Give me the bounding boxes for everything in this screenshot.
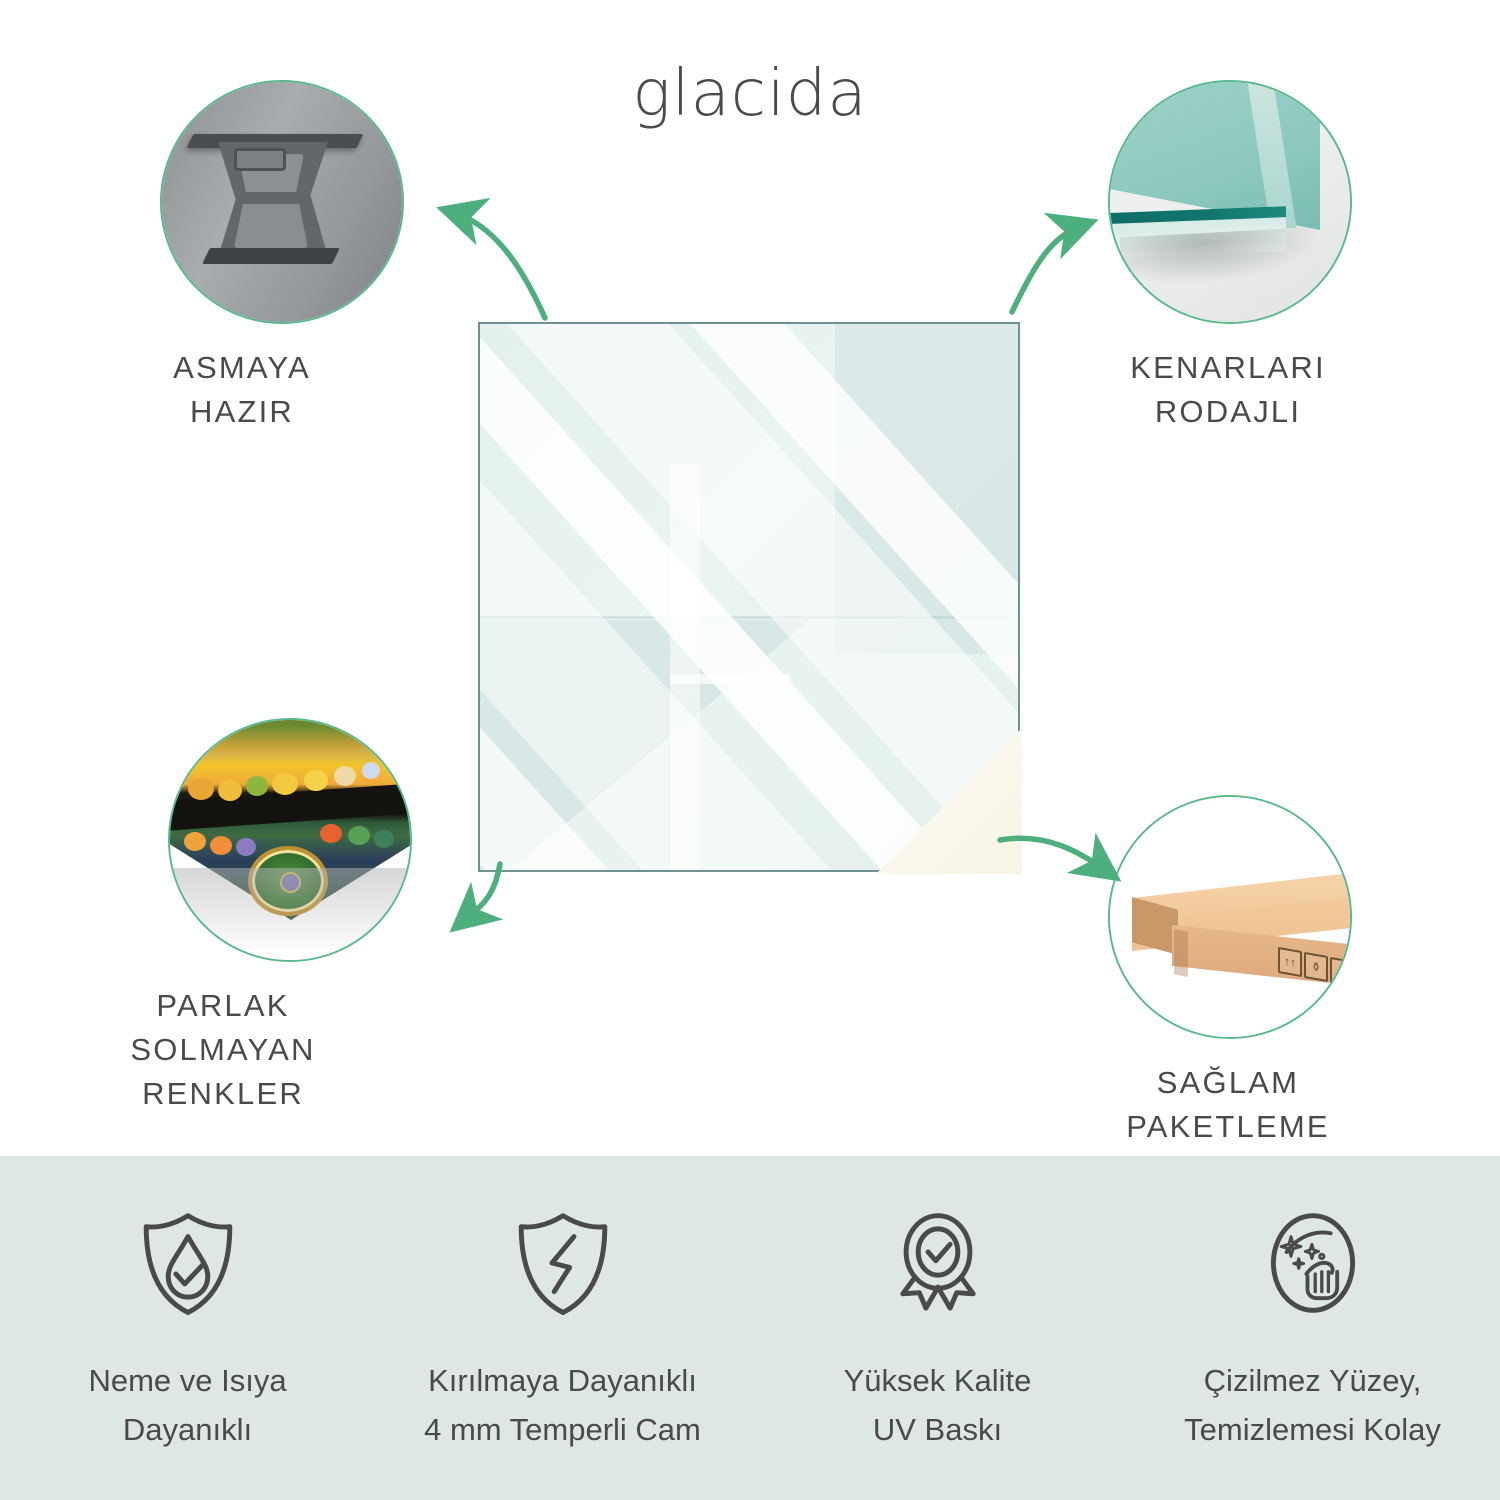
award-ribbon-check-icon — [883, 1208, 993, 1318]
arrow-to-kenarlari-rodajli — [1012, 225, 1083, 312]
wall-mount-bracket-photo — [162, 82, 402, 322]
band-item-label: Çizilmez Yüzey, Temizlemesi Kolay — [1184, 1356, 1441, 1454]
feature-label: SAĞLAM PAKETLEME — [1108, 1061, 1348, 1149]
this-way-up-icon: ↑↑ — [1278, 947, 1302, 977]
sparkle-hand-wipe-icon — [1258, 1208, 1368, 1318]
band-item-high-quality-uv: Yüksek Kalite UV Baskı — [750, 1156, 1125, 1500]
fragile-glass-icon: ⚱ — [1304, 952, 1328, 982]
feature-asmaya-hazir: ASMAYA HAZIR — [160, 80, 404, 434]
feature-image-circle: ↑↑ ⚱ ☂ — [1108, 795, 1352, 1039]
feature-label: ASMAYA HAZIR — [122, 346, 362, 434]
shield-water-drop-check-icon — [133, 1208, 243, 1318]
keep-dry-umbrella-icon: ☂ — [1330, 957, 1352, 987]
glass-surface — [478, 322, 1020, 872]
band-item-label: Neme ve Isıya Dayanıklı — [88, 1356, 286, 1454]
shield-lightning-bolt-icon — [508, 1208, 618, 1318]
band-item-break-resistant: Kırılmaya Dayanıklı 4 mm Temperli Cam — [375, 1156, 750, 1500]
feature-kenarlari-rodajli: KENARLARI RODAJLI — [1108, 80, 1352, 434]
feature-saglam-paketleme: ↑↑ ⚱ ☂ SAĞLAM PAKETLEME — [1108, 795, 1352, 1149]
band-item-label: Yüksek Kalite UV Baskı — [844, 1356, 1032, 1454]
product-glass-panel — [478, 322, 1020, 872]
cardboard-box-illustration: ↑↑ ⚱ ☂ — [1110, 797, 1350, 1037]
stained-glass-mosaic-photo — [170, 720, 410, 960]
arrow-to-parlak-solmayan-renkler — [462, 864, 500, 922]
polished-glass-edge-photo — [1110, 82, 1350, 322]
glass-horizontal-highlight — [670, 674, 790, 684]
band-item-moisture-heat: Neme ve Isıya Dayanıklı — [0, 1156, 375, 1500]
feature-band: Neme ve Isıya Dayanıklı Kırılmaya Dayanı… — [0, 1156, 1500, 1500]
feature-image-circle — [160, 80, 404, 324]
glass-vertical-highlight — [670, 464, 700, 872]
feature-label: KENARLARI RODAJLI — [1108, 346, 1348, 434]
arrow-to-asmaya-hazir — [452, 212, 545, 318]
band-item-label: Kırılmaya Dayanıklı 4 mm Temperli Cam — [424, 1356, 701, 1454]
feature-image-circle — [1108, 80, 1352, 324]
band-item-scratch-free: Çizilmez Yüzey, Temizlemesi Kolay — [1125, 1156, 1500, 1500]
feature-label: PARLAK SOLMAYAN RENKLER — [103, 984, 343, 1116]
feature-parlak-solmayan-renkler: PARLAK SOLMAYAN RENKLER — [168, 718, 412, 1116]
feature-image-circle — [168, 718, 412, 962]
